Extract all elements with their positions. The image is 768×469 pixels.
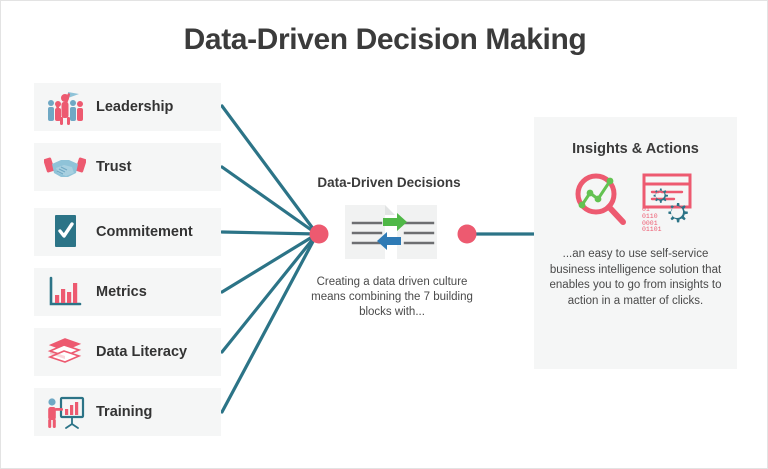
left-hub-dot: [310, 225, 329, 244]
bar-chart-icon: [42, 272, 88, 312]
block-card-commitement[interactable]: Commitement: [34, 208, 221, 256]
documents-exchange-icon: [341, 201, 441, 263]
center-title: Data-Driven Decisions: [289, 175, 489, 190]
svg-text:0110: 0110: [642, 213, 658, 220]
right-hub-dot: [458, 225, 477, 244]
block-card-data-literacy[interactable]: Data Literacy: [34, 328, 221, 376]
right-panel-title: Insights & Actions: [534, 141, 737, 157]
block-label: Data Literacy: [96, 344, 187, 360]
connector-leadership: [222, 106, 317, 234]
connector-training: [222, 234, 317, 412]
block-card-leadership[interactable]: Leadership: [34, 83, 221, 131]
block-card-trust[interactable]: Trust: [34, 143, 221, 191]
block-card-metrics[interactable]: Metrics: [34, 268, 221, 316]
connector-dataliteracy: [222, 234, 317, 352]
block-label: Training: [96, 404, 152, 420]
block-label: Leadership: [96, 99, 173, 115]
infographic-canvas: Data-Driven Decision Making: [0, 0, 768, 469]
svg-text:01: 01: [642, 206, 650, 213]
connector-commitement: [222, 232, 317, 234]
block-card-training[interactable]: Training: [34, 388, 221, 436]
block-label: Trust: [96, 159, 131, 175]
right-panel-icons: 01 0110 0001 01101: [570, 169, 702, 231]
handshake-icon: [42, 147, 88, 187]
binary-gears-document-icon: 01 0110 0001 01101: [642, 175, 690, 231]
magnifier-chart-icon: [578, 176, 623, 222]
training-board-icon: [42, 392, 88, 432]
right-panel-caption: ...an easy to use self-service business …: [548, 247, 723, 309]
center-caption: Creating a data driven culture means com…: [311, 275, 473, 320]
block-label: Metrics: [96, 284, 147, 300]
books-icon: [42, 332, 88, 372]
checkbox-icon: [42, 212, 88, 252]
block-label: Commitement: [96, 224, 193, 240]
insights-actions-panel: Insights & Actions: [534, 117, 737, 369]
svg-text:01101: 01101: [642, 226, 662, 231]
leadership-icon: [42, 87, 88, 127]
